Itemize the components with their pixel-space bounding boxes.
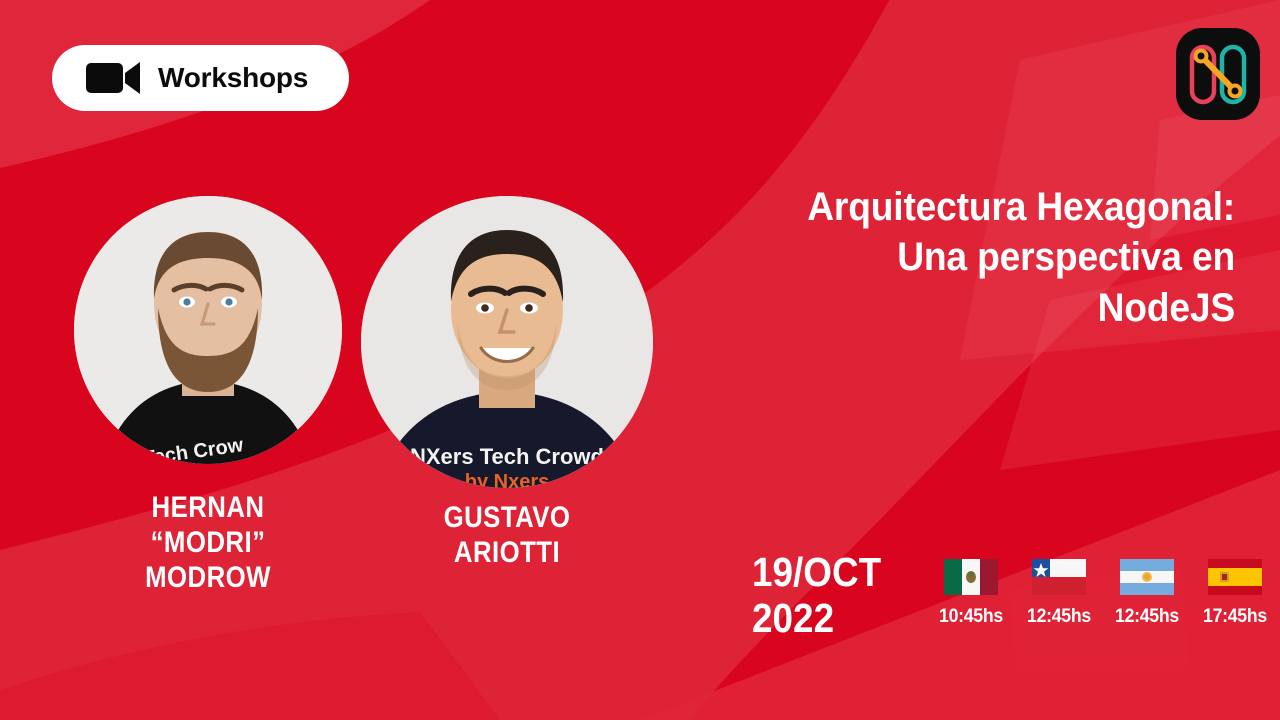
speaker-photo: Tech Crow bbox=[74, 196, 342, 464]
nxers-logo-mark bbox=[1176, 28, 1260, 120]
speaker-card: Tech Crow HERNAN “MODRI” MODROW bbox=[74, 196, 342, 595]
workshops-badge: Workshops bbox=[52, 45, 349, 111]
event-date: 19/OCT 2022 bbox=[752, 548, 881, 642]
schedule-block: 19/OCT 2022 10:45hs bbox=[752, 548, 1272, 642]
speaker-photo: NXers Tech Crowd by Nxers bbox=[361, 196, 653, 488]
event-title: Arquitectura Hexagonal: Una perspectiva … bbox=[751, 182, 1235, 333]
chile-flag bbox=[1022, 552, 1096, 602]
video-camera-icon bbox=[86, 61, 141, 95]
svg-text:NXers Tech Crowd: NXers Tech Crowd bbox=[410, 444, 604, 469]
mexico-flag bbox=[934, 552, 1008, 602]
region-time: 10:45hs bbox=[936, 606, 1005, 628]
avatar: NXers Tech Crowd by Nxers bbox=[361, 196, 653, 488]
nxers-logo bbox=[1176, 28, 1260, 120]
workshops-badge-label: Workshops bbox=[158, 64, 308, 92]
svg-text:by Nxers: by Nxers bbox=[465, 471, 550, 488]
region-item-argentina: 12:45hs bbox=[1110, 552, 1184, 628]
region-item-spain: 17:45hs bbox=[1198, 552, 1272, 628]
avatar: Tech Crow bbox=[74, 196, 342, 464]
region-time: 17:45hs bbox=[1200, 606, 1269, 628]
speaker-name: HERNAN “MODRI” MODROW bbox=[93, 490, 323, 595]
speaker-card: NXers Tech Crowd by Nxers GUSTAVO ARIOTT… bbox=[361, 196, 653, 570]
region-item-chile: 12:45hs bbox=[1022, 552, 1096, 628]
region-time: 12:45hs bbox=[1024, 606, 1093, 628]
region-times-list: 10:45hs 12:45hs bbox=[934, 548, 1272, 628]
argentina-flag bbox=[1110, 552, 1184, 602]
event-banner: Workshops bbox=[0, 0, 1280, 720]
speaker-name: GUSTAVO ARIOTTI bbox=[381, 500, 632, 570]
region-item-mexico: 10:45hs bbox=[934, 552, 1008, 628]
spain-flag bbox=[1198, 552, 1272, 602]
region-time: 12:45hs bbox=[1112, 606, 1181, 628]
